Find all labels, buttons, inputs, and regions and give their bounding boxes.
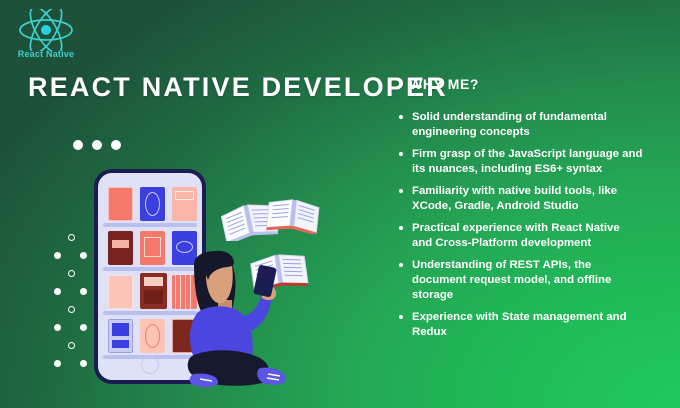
book	[140, 319, 165, 353]
logo-caption: React Native	[9, 49, 83, 59]
book	[140, 273, 167, 309]
book	[140, 187, 165, 221]
book	[108, 319, 133, 353]
book	[108, 275, 133, 309]
atom-icon	[9, 9, 83, 51]
three-dots-decoration	[73, 140, 121, 150]
benefits-list: Solid understanding of fundamental engin…	[398, 110, 643, 347]
woman-reading-phone	[168, 248, 298, 390]
dot	[111, 140, 121, 150]
book	[108, 187, 133, 221]
react-native-logo: React Native	[9, 9, 83, 71]
poster-canvas: React Native REACT NATIVE DEVELOPER	[0, 0, 680, 408]
list-item: Solid understanding of fundamental engin…	[398, 110, 643, 140]
floating-book	[265, 196, 321, 234]
list-item: Practical experience with React Native a…	[398, 221, 643, 251]
list-item: Understanding of REST APIs, the document…	[398, 258, 643, 303]
list-item: Experience with State management and Red…	[398, 310, 643, 340]
list-item: Familiarity with native build tools, lik…	[398, 184, 643, 214]
book	[140, 231, 165, 265]
list-item: Firm grasp of the JavaScript language an…	[398, 147, 643, 177]
atom-nucleus	[41, 25, 51, 35]
home-button	[141, 356, 159, 374]
why-me-heading: WHY ME?	[409, 76, 479, 92]
page-title: REACT NATIVE DEVELOPER	[28, 72, 448, 103]
dot	[73, 140, 83, 150]
book	[172, 187, 197, 221]
dot	[92, 140, 102, 150]
book	[108, 231, 133, 265]
